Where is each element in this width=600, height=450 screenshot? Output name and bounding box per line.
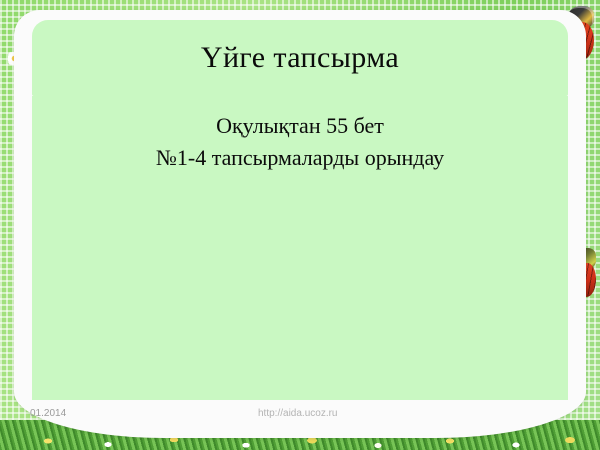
slide-content-card: Үйге тапсырма Оқулықтан 55 бет №1-4 тапс… xyxy=(14,10,586,438)
presentation-slide: Үйге тапсырма Оқулықтан 55 бет №1-4 тапс… xyxy=(0,0,600,450)
body-line-2: №1-4 тапсырмаларды орындау xyxy=(32,142,568,174)
slide-body-panel: Оқулықтан 55 бет №1-4 тапсырмаларды орын… xyxy=(32,96,568,400)
slide-title: Үйге тапсырма xyxy=(201,41,399,75)
slide-title-panel: Үйге тапсырма xyxy=(32,20,568,96)
body-line-1: Оқулықтан 55 бет xyxy=(32,110,568,142)
